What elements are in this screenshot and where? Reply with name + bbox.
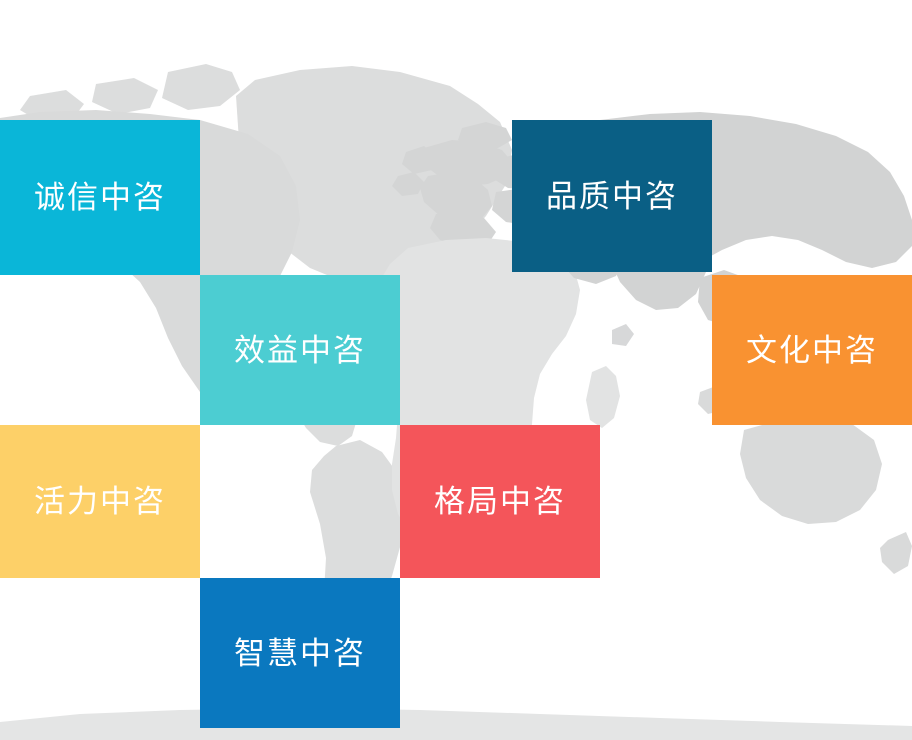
tile-vitality-label: 活力中咨 — [34, 486, 166, 517]
map-antarctica-edge — [0, 708, 912, 740]
tile-wisdom[interactable]: 智慧中咨 — [200, 578, 400, 728]
tile-culture[interactable]: 文化中咨 — [712, 275, 912, 425]
tile-quality[interactable]: 品质中咨 — [512, 120, 712, 272]
tile-pattern-label: 格局中咨 — [434, 486, 566, 517]
tile-pattern[interactable]: 格局中咨 — [400, 425, 600, 578]
tile-culture-label: 文化中咨 — [746, 335, 878, 366]
slide-canvas: 诚信中咨 品质中咨 效益中咨 文化中咨 活力中咨 格局中咨 智慧中咨 — [0, 0, 912, 740]
tile-quality-label: 品质中咨 — [546, 181, 678, 212]
tile-wisdom-label: 智慧中咨 — [234, 638, 366, 669]
tile-benefit[interactable]: 效益中咨 — [200, 275, 400, 425]
tile-vitality[interactable]: 活力中咨 — [0, 425, 200, 578]
tile-integrity[interactable]: 诚信中咨 — [0, 120, 200, 275]
tile-benefit-label: 效益中咨 — [234, 335, 366, 366]
tile-integrity-label: 诚信中咨 — [34, 182, 166, 213]
